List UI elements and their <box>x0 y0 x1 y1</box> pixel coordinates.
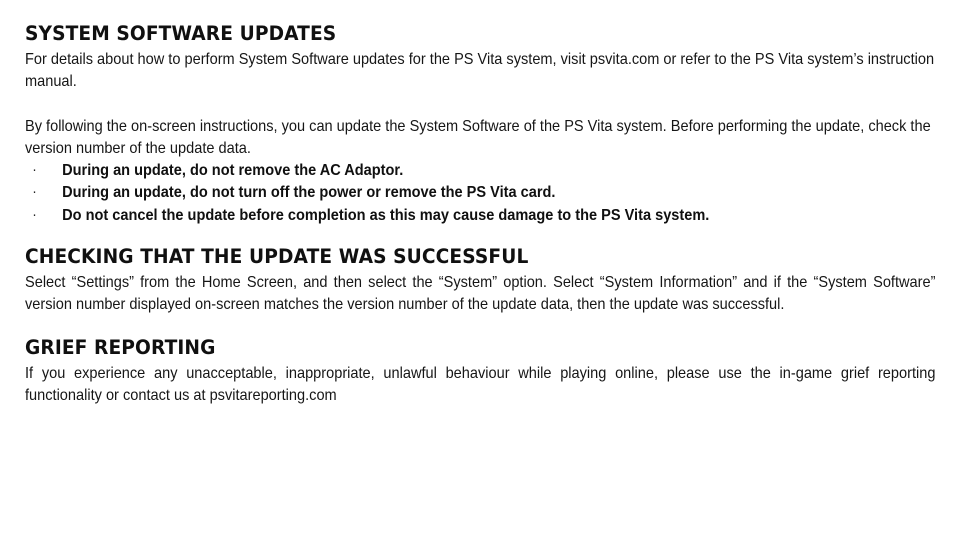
paragraph-update-details: For details about how to perform System … <box>25 48 935 93</box>
bullet-dot-icon: · <box>32 181 37 203</box>
section-checking-update-successful: CHECKING THAT THE UPDATE WAS SUCCESSFUL … <box>25 245 935 316</box>
paragraph-grief-reporting: If you experience any unacceptable, inap… <box>25 362 935 407</box>
paragraph-verify-version: Select “Settings” from the Home Screen, … <box>25 271 935 316</box>
list-item: · Do not cancel the update before comple… <box>25 204 935 226</box>
section-system-software-updates: SYSTEM SOFTWARE UPDATES For details abou… <box>25 22 935 226</box>
list-item-label: Do not cancel the update before completi… <box>62 206 709 224</box>
section-grief-reporting: GRIEF REPORTING If you experience any un… <box>25 336 935 407</box>
document-content: SYSTEM SOFTWARE UPDATES For details abou… <box>25 22 935 406</box>
section-heading-system-software-updates: SYSTEM SOFTWARE UPDATES <box>25 22 894 45</box>
list-item: · During an update, do not turn off the … <box>25 181 935 203</box>
bullet-dot-icon: · <box>32 204 37 226</box>
list-item-label: During an update, do not remove the AC A… <box>62 161 403 179</box>
document-page: SYSTEM SOFTWARE UPDATES For details abou… <box>0 0 960 544</box>
paragraph-spacer <box>25 93 935 115</box>
update-warnings-list: · During an update, do not remove the AC… <box>25 159 935 226</box>
section-heading-checking-update-successful: CHECKING THAT THE UPDATE WAS SUCCESSFUL <box>25 245 894 268</box>
list-item: · During an update, do not remove the AC… <box>25 159 935 181</box>
bullet-dot-icon: · <box>32 159 37 181</box>
section-heading-grief-reporting: GRIEF REPORTING <box>25 336 894 359</box>
paragraph-update-instructions: By following the on-screen instructions,… <box>25 115 935 160</box>
list-item-label: During an update, do not turn off the po… <box>62 183 555 201</box>
